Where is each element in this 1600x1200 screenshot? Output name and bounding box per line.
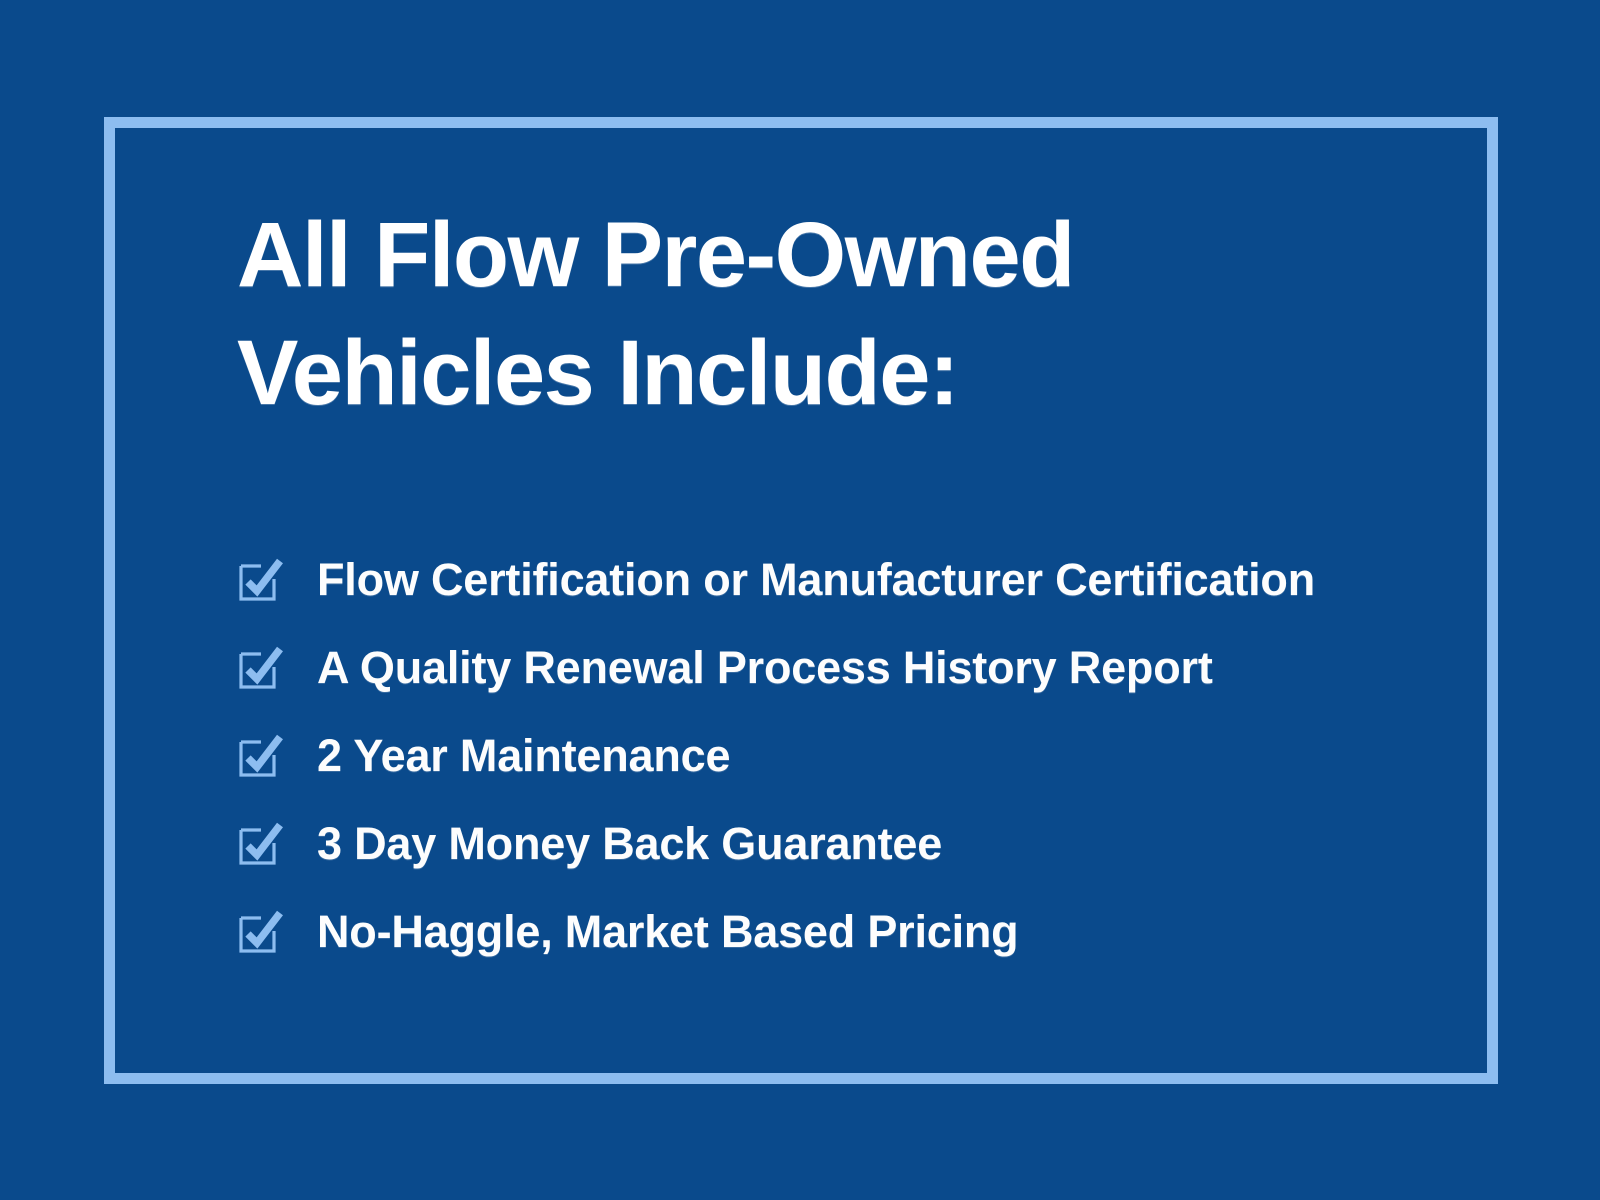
checkbox-checked-icon xyxy=(237,645,283,691)
list-item: 2 Year Maintenance xyxy=(237,712,1467,800)
list-item: A Quality Renewal Process History Report xyxy=(237,624,1467,712)
checkbox-checked-icon xyxy=(237,557,283,603)
benefits-checklist: Flow Certification or Manufacturer Certi… xyxy=(237,536,1467,976)
page-title-line-1: All Flow Pre-Owned xyxy=(237,196,1467,314)
checkbox-checked-icon xyxy=(237,733,283,779)
list-item: 3 Day Money Back Guarantee xyxy=(237,800,1467,888)
checkbox-checked-icon xyxy=(237,821,283,867)
page-title-line-2: Vehicles Include: xyxy=(237,314,1467,432)
list-item-label: No-Haggle, Market Based Pricing xyxy=(317,907,1018,957)
list-item-label: A Quality Renewal Process History Report xyxy=(317,643,1213,693)
checkbox-checked-icon xyxy=(237,909,283,955)
page-title: All Flow Pre-Owned Vehicles Include: xyxy=(237,196,1467,432)
list-item: No-Haggle, Market Based Pricing xyxy=(237,888,1467,976)
list-item-label: 2 Year Maintenance xyxy=(317,731,730,781)
list-item-label: 3 Day Money Back Guarantee xyxy=(317,819,942,869)
promo-poster: All Flow Pre-Owned Vehicles Include: Flo… xyxy=(0,0,1600,1200)
poster-content: All Flow Pre-Owned Vehicles Include: Flo… xyxy=(237,196,1467,976)
list-item: Flow Certification or Manufacturer Certi… xyxy=(237,536,1467,624)
list-item-label: Flow Certification or Manufacturer Certi… xyxy=(317,555,1315,605)
